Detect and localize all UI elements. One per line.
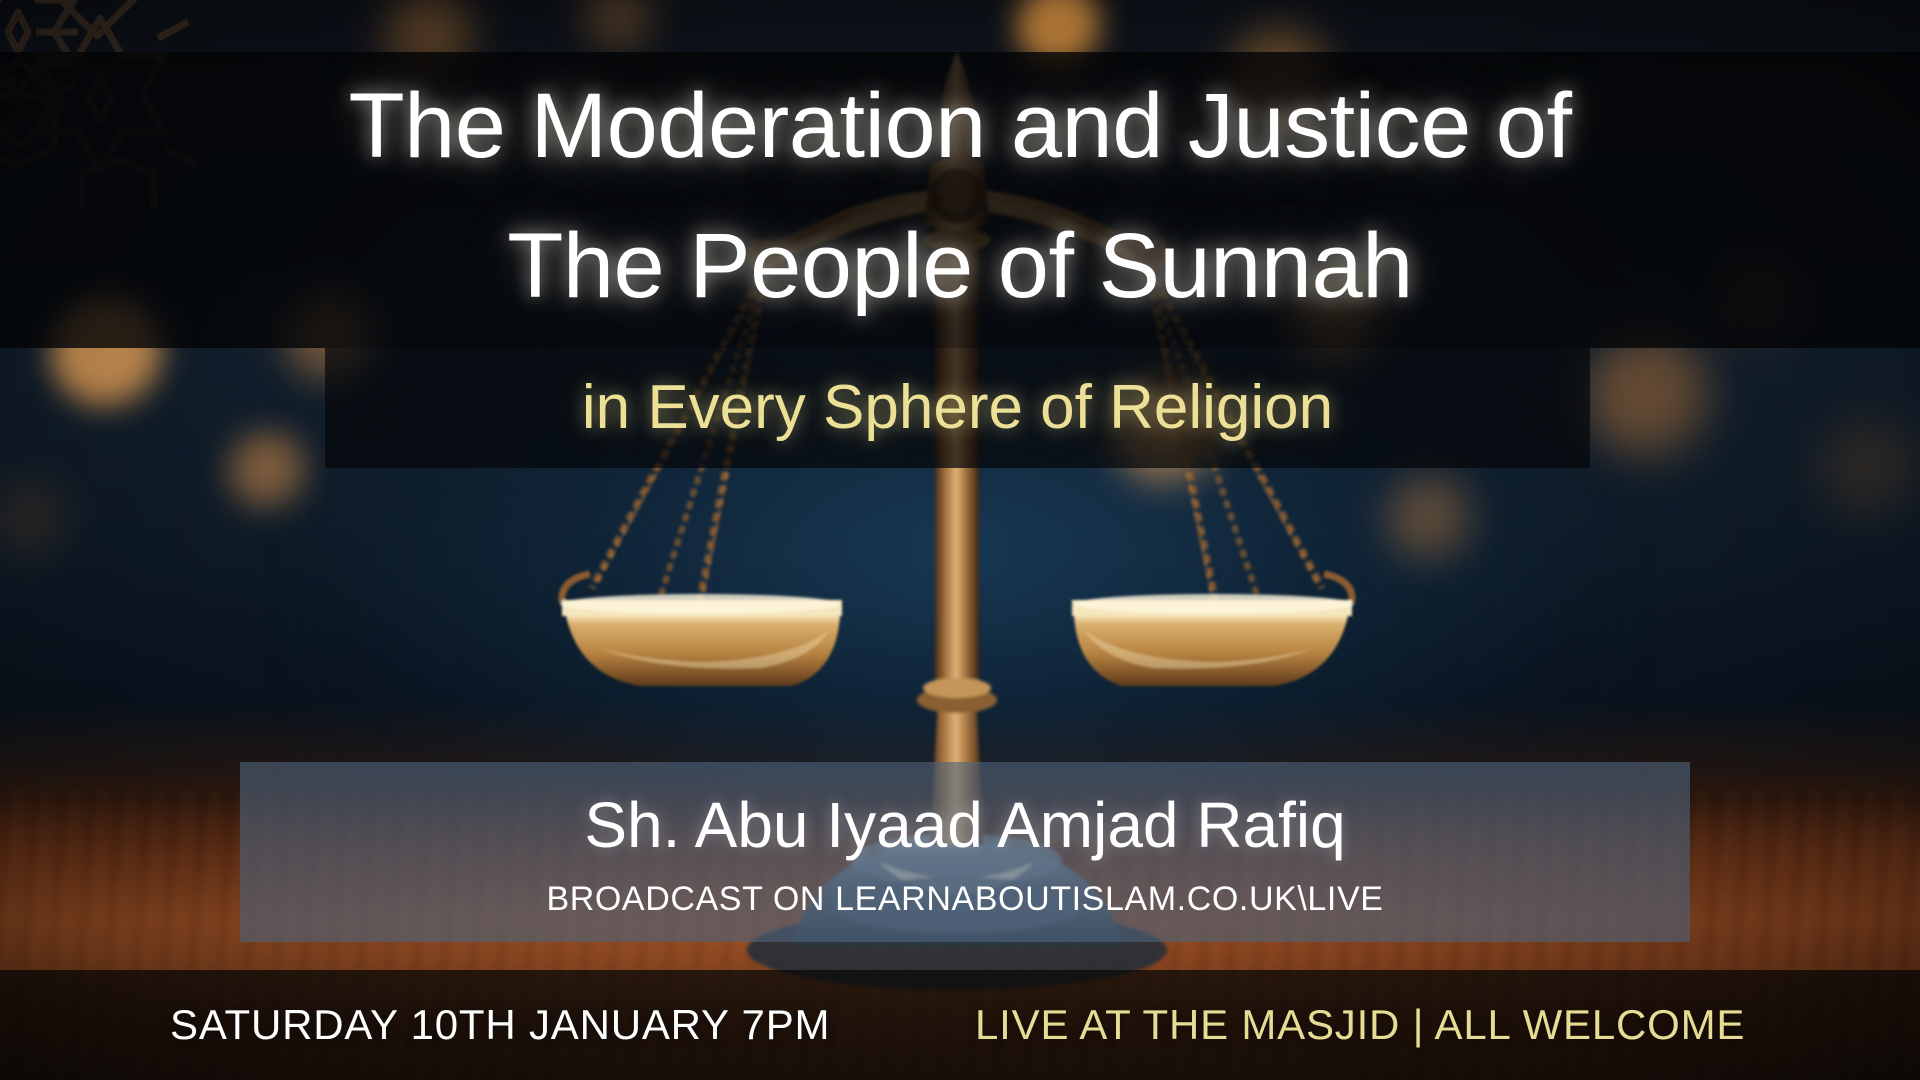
subtitle: in Every Sphere of Religion (325, 360, 1590, 456)
event-poster: The Moderation and Justice of The People… (0, 0, 1920, 1080)
page-title: The Moderation and Justice of The People… (0, 56, 1920, 336)
bottom-info-bar: SATURDAY 10TH JANUARY 7PM LIVE AT THE MA… (0, 970, 1920, 1080)
title-line-1: The Moderation and Justice of (0, 56, 1920, 196)
event-date-time: SATURDAY 10TH JANUARY 7PM (170, 970, 830, 1080)
event-venue-note: LIVE AT THE MASJID | ALL WELCOME (975, 970, 1745, 1080)
speaker-name: Sh. Abu Iyaad Amjad Rafiq (240, 782, 1690, 868)
broadcast-url-line: BROADCAST ON LEARNABOUTISLAM.CO.UK\LIVE (240, 876, 1690, 922)
title-line-2: The People of Sunnah (0, 196, 1920, 336)
